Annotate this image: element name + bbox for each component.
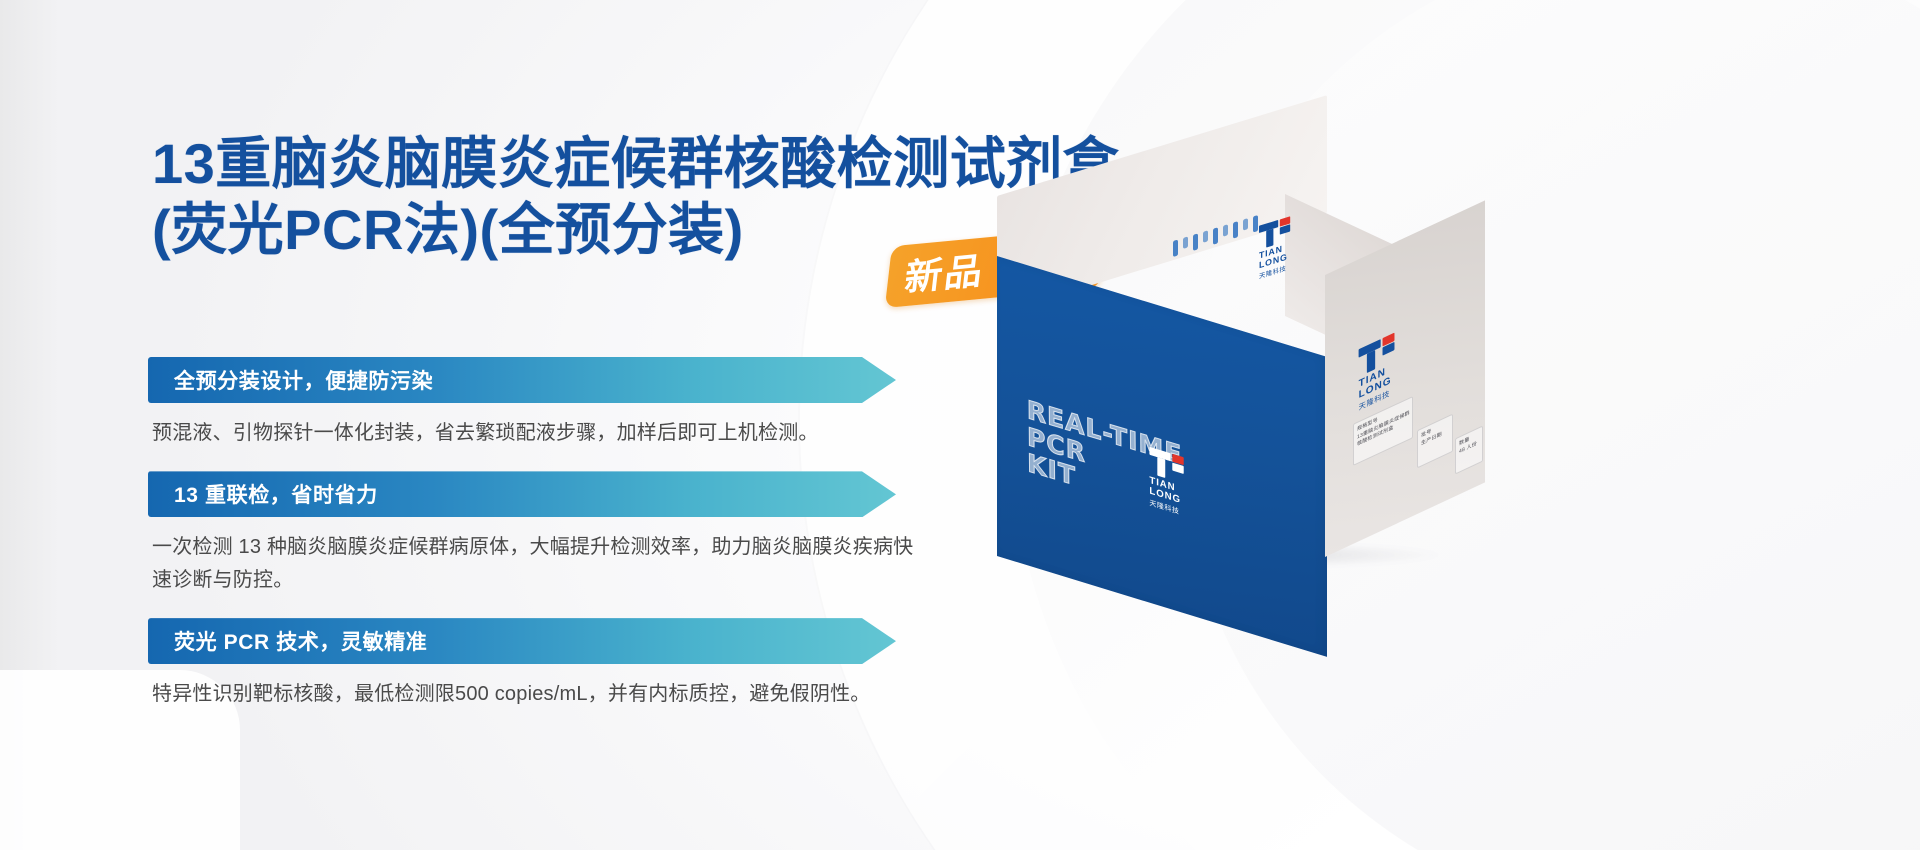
feature-heading-text: 荧光 PCR 技术，灵敏精准 (174, 626, 427, 656)
brand-logo-top: TIAN LONG 天隆科技 (1259, 216, 1291, 281)
feature-body-text: 特异性识别靶标核酸，最低检测限500 copies/mL，并有内标质控，避免假阴… (152, 678, 922, 710)
promo-banner: 13重脑炎脑膜炎症候群核酸检测试剂盒 (荧光PCR法)(全预分装) 新品 上市 … (0, 0, 1920, 850)
feature-item: 13 重联检，省时省力 一次检测 13 种脑炎脑膜炎症候群病原体，大幅提升检测效… (148, 471, 1068, 596)
feature-heading-text: 全预分装设计，便捷防污染 (174, 365, 433, 395)
badge-text-new: 新品 (902, 240, 987, 301)
feature-heading-bar: 荧光 PCR 技术，灵敏精准 (148, 618, 896, 664)
feature-item: 荧光 PCR 技术，灵敏精准 特异性识别靶标核酸，最低检测限500 copies… (148, 618, 1068, 710)
brand-logo-front: TIAN LONG 天隆科技 (1149, 447, 1184, 519)
product-box-image: REAL-TIME PCR KIT TIAN LONG 天隆科技 TIAN LO… (985, 170, 1465, 590)
feature-heading-bar: 全预分装设计，便捷防污染 (148, 357, 896, 403)
feature-list: 全预分装设计，便捷防污染 预混液、引物探针一体化封装，省去繁琐配液步骤，加样后即… (148, 357, 1068, 733)
feature-heading-bar: 13 重联检，省时省力 (148, 471, 896, 517)
feature-body-text: 一次检测 13 种脑炎脑膜炎症候群病原体，大幅提升检测效率，助力脑炎脑膜炎疾病快… (152, 531, 922, 596)
feature-item: 全预分装设计，便捷防污染 预混液、引物探针一体化封装，省去繁琐配液步骤，加样后即… (148, 357, 1068, 449)
feature-heading-text: 13 重联检，省时省力 (174, 479, 378, 509)
feature-body-text: 预混液、引物探针一体化封装，省去繁琐配液步骤，加样后即可上机检测。 (152, 417, 922, 449)
